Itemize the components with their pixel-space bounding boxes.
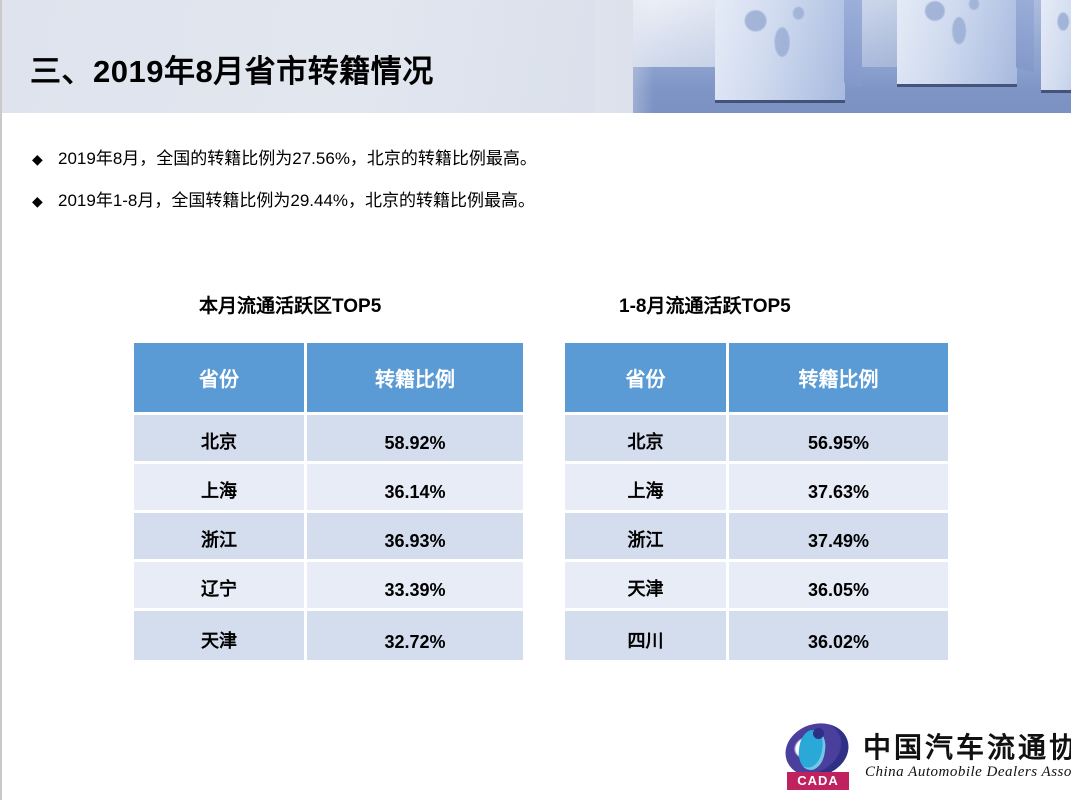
cell-rate: 58.92%: [307, 415, 523, 464]
cube-side-face: [844, 0, 862, 87]
logo-name-en: China Automobile Dealers Association: [865, 764, 1071, 781]
column-header-rate: 转籍比例: [307, 343, 523, 415]
left-table-caption: 本月流通活跃区TOP5: [199, 291, 381, 318]
banner-cube-icon: [715, 0, 845, 100]
cell-province: 辽宁: [134, 562, 307, 611]
cell-rate: 32.72%: [307, 611, 523, 660]
cell-rate: 36.93%: [307, 513, 523, 562]
cada-logo: CADA 中国汽车流通协会 China Automobile Dealers A…: [781, 722, 1063, 792]
cell-province: 浙江: [134, 513, 307, 562]
header-banner-image: [633, 0, 1071, 113]
cell-rate: 36.05%: [729, 562, 948, 611]
table-row: 浙江 37.49%: [565, 513, 948, 562]
cell-province: 天津: [565, 562, 729, 611]
table-row: 北京 56.95%: [565, 415, 948, 464]
bullet-text: 2019年1-8月，全国转籍比例为29.44%，北京的转籍比例最高。: [58, 188, 535, 214]
table-row: 四川 36.02%: [565, 611, 948, 660]
cell-province: 北京: [134, 415, 307, 464]
swirl-dot-icon: [813, 728, 824, 739]
diamond-bullet-icon: ◆: [32, 188, 58, 214]
banner-fade-overlay: [594, 0, 654, 113]
cell-rate: 36.02%: [729, 611, 948, 660]
cell-rate: 36.14%: [307, 464, 523, 513]
logo-name-cn: 中国汽车流通协会: [863, 726, 1071, 766]
right-table-caption: 1-8月流通活跃TOP5: [619, 291, 791, 318]
cell-province: 上海: [565, 464, 729, 513]
cell-rate: 56.95%: [729, 415, 948, 464]
cell-rate: 37.49%: [729, 513, 948, 562]
cada-abbreviation: CADA: [787, 772, 849, 790]
bullet-text: 2019年8月，全国的转籍比例为27.56%，北京的转籍比例最高。: [58, 146, 537, 172]
table-row: 辽宁 33.39%: [134, 562, 523, 611]
cube-side-face: [1016, 0, 1034, 73]
bullet-item: ◆ 2019年8月，全国的转籍比例为27.56%，北京的转籍比例最高。: [32, 146, 972, 172]
banner-cube-icon: [1041, 0, 1071, 90]
left-data-table: 省份 转籍比例 北京 58.92% 上海 36.14% 浙江 36.93% 辽宁…: [134, 343, 523, 660]
cell-province: 上海: [134, 464, 307, 513]
right-data-table: 省份 转籍比例 北京 56.95% 上海 37.63% 浙江 37.49% 天津…: [565, 343, 948, 660]
table-header-row: 省份 转籍比例: [565, 343, 948, 415]
cell-rate: 33.39%: [307, 562, 523, 611]
cada-logo-mark-icon: CADA: [781, 722, 855, 792]
table-header-row: 省份 转籍比例: [134, 343, 523, 415]
world-map-icon: [1047, 2, 1071, 68]
slide-canvas: 三、2019年8月省市转籍情况 ◆ 2019年8月，全国的转籍比例为27.56%…: [0, 0, 1071, 800]
column-header-rate: 转籍比例: [729, 343, 948, 415]
world-map-icon: [725, 0, 826, 74]
column-header-province: 省份: [134, 343, 307, 415]
table-row: 天津 36.05%: [565, 562, 948, 611]
cell-province: 四川: [565, 611, 729, 660]
table-row: 上海 36.14%: [134, 464, 523, 513]
table-row: 天津 32.72%: [134, 611, 523, 660]
cell-province: 浙江: [565, 513, 729, 562]
bullet-item: ◆ 2019年1-8月，全国转籍比例为29.44%，北京的转籍比例最高。: [32, 188, 972, 214]
cell-province: 天津: [134, 611, 307, 660]
diamond-bullet-icon: ◆: [32, 146, 58, 172]
table-row: 上海 37.63%: [565, 464, 948, 513]
cell-rate: 37.63%: [729, 464, 948, 513]
table-row: 北京 58.92%: [134, 415, 523, 464]
world-map-icon: [907, 0, 1001, 60]
bullet-list: ◆ 2019年8月，全国的转籍比例为27.56%，北京的转籍比例最高。 ◆ 20…: [32, 146, 972, 230]
banner-cube-icon: [897, 0, 1017, 84]
column-header-province: 省份: [565, 343, 729, 415]
slide-title: 三、2019年8月省市转籍情况: [30, 46, 434, 91]
cell-province: 北京: [565, 415, 729, 464]
table-row: 浙江 36.93%: [134, 513, 523, 562]
